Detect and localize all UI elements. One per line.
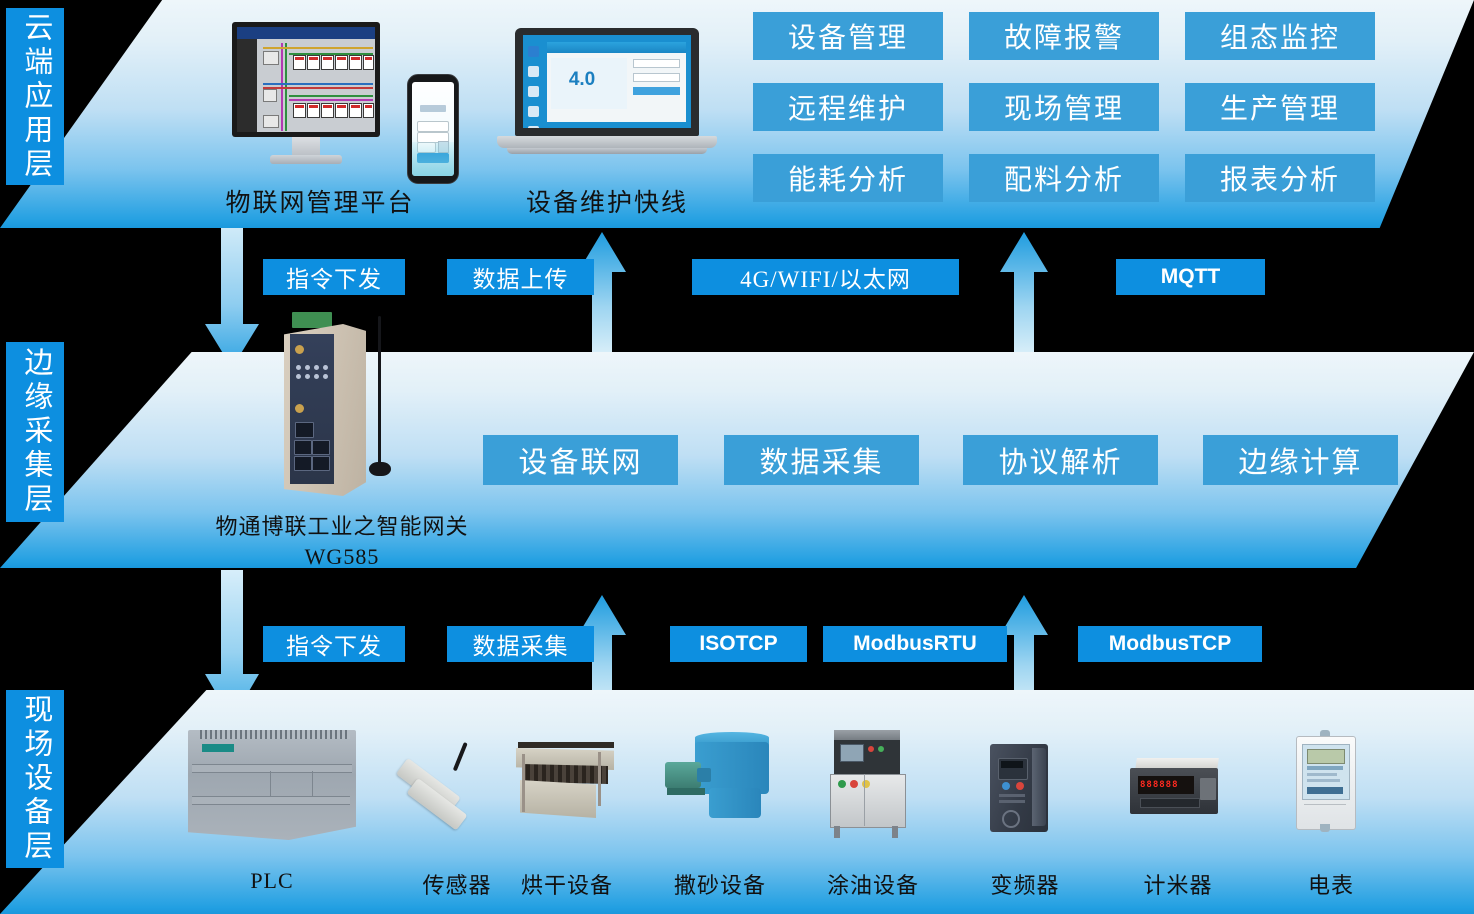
oiling-button-green[interactable] [838,780,846,788]
gateway-caption-model: WG585 [182,542,502,572]
oiling-button-red[interactable] [850,780,858,788]
architecture-diagram: 4.0 物联网管理平台 设备维护快线 设备管理 故障报警 组态监控 远程维护 现… [0,0,1474,914]
oiling-machine-icon [824,730,922,840]
chip-command-dispatch-top: 指令下发 [263,259,405,295]
chip-data-collection: 数据采集 [447,626,594,662]
device-caption-counter: 计米器 [1098,868,1258,900]
meter-seal-cap-bottom [1320,824,1330,832]
mqtt-up-arrow-top [1000,232,1048,368]
meter-lcd [1307,749,1345,764]
meter-counter-icon: 888888 [1130,758,1226,820]
mobile-app-phone [407,74,459,184]
oiling-leg [834,826,840,838]
sensor-icon [398,742,516,838]
plc-terminal-strip [192,796,350,805]
chip-mqtt: MQTT [1116,259,1265,295]
browser-icon[interactable] [528,46,539,57]
scada-unit [335,55,348,70]
oiling-indicator-light [868,746,874,752]
cap-button-data-acquisition[interactable]: 数据采集 [724,435,919,485]
chip-data-upload: 数据上传 [447,259,594,295]
scada-rail [263,87,373,89]
desktop-taskbar [523,40,545,124]
monitor-display [237,27,375,132]
gateway-lan-port [312,456,330,471]
device-caption-plc: PLC [192,868,352,894]
scada-block [263,51,279,65]
gateway-antenna-rod [378,316,381,466]
login-submit-button[interactable] [633,87,680,95]
device-caption-sand: 撒砂设备 [640,868,800,900]
chip-command-dispatch-bottom: 指令下发 [263,626,405,662]
device-caption-emeter: 电表 [1251,868,1411,900]
inverter-knob[interactable] [1002,810,1020,828]
phone-wallpaper [412,142,454,176]
cap-button-protocol-parsing[interactable]: 协议解析 [963,435,1158,485]
dryer-hood-bar [518,742,614,748]
counter-digits: 888888 [1140,780,1179,790]
scada-block [263,115,279,128]
scada-unit [321,55,334,70]
laptop-base [497,136,717,148]
chip-modbustcp: ModbusTCP [1078,626,1262,662]
app-icon[interactable] [528,86,539,97]
device-caption-oiling: 涂油设备 [793,868,953,900]
app-button-device-management[interactable]: 设备管理 [753,12,943,60]
scada-unit [363,103,374,118]
scada-titlebar [237,27,375,39]
meter-label-line [1307,766,1343,770]
app-button-energy-analysis[interactable]: 能耗分析 [753,154,943,202]
gateway-status-led [314,365,319,370]
login-window: 4.0 [547,42,686,123]
meter-label-line [1307,773,1337,776]
app-button-production-mgmt[interactable]: 生产管理 [1185,83,1375,131]
inverter-stop-button[interactable] [1016,782,1024,790]
gateway-status-led [323,365,328,370]
gateway-terminal-block [292,312,332,328]
gateway-lan-port [294,456,312,471]
laptop-foot [507,148,707,154]
login-form [633,59,680,95]
chip-isotcp: ISOTCP [670,626,807,662]
device-caption-inverter: 变频器 [945,868,1105,900]
gateway-status-led [305,365,310,370]
inverter-vent [999,800,1025,803]
scada-unit [363,55,374,70]
sand-spreader-icon [665,732,777,836]
gateway-antenna-connector [295,404,304,413]
edge-gateway-device [276,310,406,510]
meter-terminal-seam [1304,804,1346,805]
sand-motor [665,762,701,788]
scada-rail [289,95,373,97]
app-button-fault-alarm[interactable]: 故障报警 [969,12,1159,60]
cap-button-device-networking[interactable]: 设备联网 [483,435,678,485]
app-icon[interactable] [528,66,539,77]
meter-barcode [1307,787,1343,794]
sand-outlet [709,788,761,818]
scada-rail [263,47,373,49]
inverter-icon [990,744,1056,834]
data-upload-arrow-top [578,232,626,368]
scada-sidebar [237,39,257,132]
gateway-wan-port [295,422,314,438]
gateway-status-led [296,365,301,370]
scada-unit [293,103,306,118]
sidebar-tab-field-device-layer[interactable]: 现场设备层 [6,690,64,868]
sand-coupling [697,768,711,782]
maintenance-line-caption: 设备维护快线 [487,183,727,219]
cloud-application-buttons: 设备管理 故障报警 组态监控 远程维护 现场管理 生产管理 能耗分析 配料分析 … [753,12,1375,202]
username-input[interactable] [633,59,680,68]
cap-button-edge-computing[interactable]: 边缘计算 [1203,435,1398,485]
laptop-screen: 4.0 [523,35,691,128]
plc-brand-logo [202,744,234,752]
scada-unit [307,103,320,118]
gateway-lan-port [294,440,312,455]
app-icon[interactable] [528,126,539,128]
sidebar-tab-edge-collection-layer[interactable]: 边缘采集层 [6,342,64,522]
gateway-status-led [314,374,319,379]
gateway-antenna-base [369,462,391,476]
gateway-status-led [305,374,310,379]
plc-divider [270,771,271,797]
plc-vent [200,730,350,739]
laptop-lid: 4.0 [515,28,699,136]
inverter-run-button[interactable] [1002,782,1010,790]
phone-app-logo [420,105,447,112]
counter-keypad[interactable] [1140,798,1200,808]
window-titlebar [547,42,686,53]
plc-terminal-strip [192,764,352,773]
counter-connector [1200,778,1216,800]
electric-meter-icon [1288,730,1364,836]
phone-username-field[interactable] [417,121,449,132]
dryer-leg [522,754,525,812]
iot-platform-monitor [232,22,392,172]
maintenance-laptop: 4.0 [487,28,727,168]
command-down-arrow-top [205,228,259,368]
app-button-remote-maintenance[interactable]: 远程维护 [753,83,943,131]
scada-unit [321,103,334,118]
inverter-vent [999,794,1025,797]
dryer-base [520,780,596,818]
scada-block [263,89,277,102]
sand-motor-base [667,788,705,795]
version-badge: 4.0 [569,69,595,91]
app-button-material-analysis[interactable]: 配料分析 [969,154,1159,202]
gateway-caption-name: 物通博联工业之智能网关 [182,512,502,542]
chip-network-protocols: 4G/WIFI/以太网 [692,259,959,295]
sensor-cable [453,742,468,771]
plc-icon [188,724,356,842]
monitor-stand-neck [292,137,320,157]
oiling-door-seam [864,774,865,826]
meter-label-line [1307,779,1340,782]
chip-modbusrtu: ModbusRTU [823,626,1007,662]
oiling-indicator-light [878,746,884,752]
scada-rail [289,99,373,101]
scada-unit [349,55,362,70]
gateway-antenna-connector [295,345,304,354]
inverter-side-panel [1032,748,1046,826]
app-button-report-analysis[interactable]: 报表分析 [1185,154,1375,202]
dryer-leg [598,752,601,806]
scada-unit [335,103,348,118]
monitor-stand-base [270,155,342,164]
plc-divider [312,771,313,797]
gateway-lan-port [312,440,330,455]
gateway-status-led [323,374,328,379]
scada-rail [263,83,373,85]
scada-unit [293,55,306,70]
gateway-caption: 物通博联工业之智能网关 WG585 [182,512,502,571]
scada-unit [307,55,320,70]
app-button-scada-monitoring[interactable]: 组态监控 [1185,12,1375,60]
iot-platform-caption: 物联网管理平台 [200,183,440,219]
scada-unit [349,103,362,118]
password-input[interactable] [633,73,680,82]
monitor-screen [232,22,380,137]
app-icon[interactable] [528,106,539,117]
dryer-icon [512,738,622,836]
oiling-hmi-screen[interactable] [840,744,864,762]
device-caption-dryer: 烘干设备 [487,868,647,900]
phone-screen [412,82,454,176]
oiling-leg [892,826,898,838]
app-button-site-management[interactable]: 现场管理 [969,83,1159,131]
inverter-display [1001,761,1023,768]
sidebar-tab-cloud-application-layer[interactable]: 云端应用层 [6,8,64,185]
gateway-status-led [296,374,301,379]
